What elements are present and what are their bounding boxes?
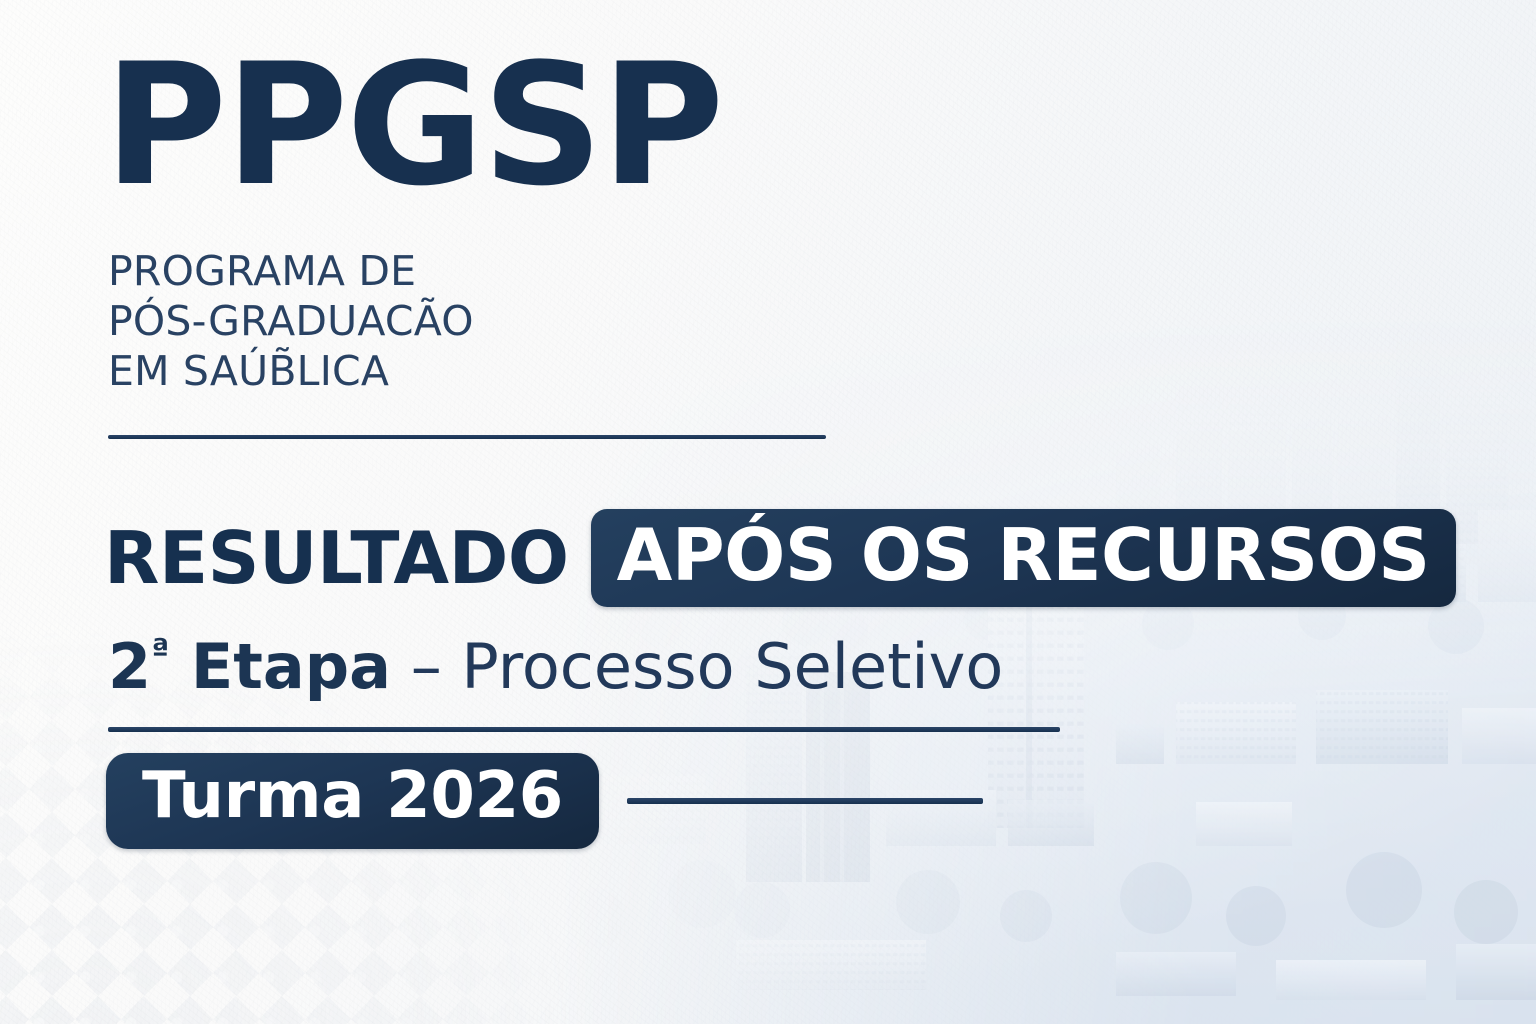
poster-content: PPGSP PROGRAMA DE PÓS-GRADUACÃO EM SAÚB̃… [0,0,1536,1024]
divider-under-subtitle [108,435,826,439]
divider-under-stage [108,727,1060,732]
stage-dash: – [411,630,442,703]
poster-canvas: PPGSP PROGRAMA DE PÓS-GRADUACÃO EM SAÚB̃… [0,0,1536,1024]
program-subtitle: PROGRAMA DE PÓS-GRADUACÃO EM SAÚB̃LICA [108,246,474,396]
stage-number: 2 [108,630,151,703]
headline-row: RESULTADO APÓS OS RECURSOS [104,509,1456,607]
divider-beside-cohort-badge [627,798,983,804]
page-title: PPGSP [104,46,722,206]
cohort-badge: Turma 2026 [106,753,599,849]
stage-word: Etapa [191,630,391,703]
stage-process: Processo Seletivo [461,630,1003,703]
stage-ordinal: ª [151,632,169,670]
status-badge: APÓS OS RECURSOS [591,509,1456,607]
stage-subheading: 2ª Etapa – Processo Seletivo [108,633,1003,701]
headline-result-label: RESULTADO [104,516,569,600]
